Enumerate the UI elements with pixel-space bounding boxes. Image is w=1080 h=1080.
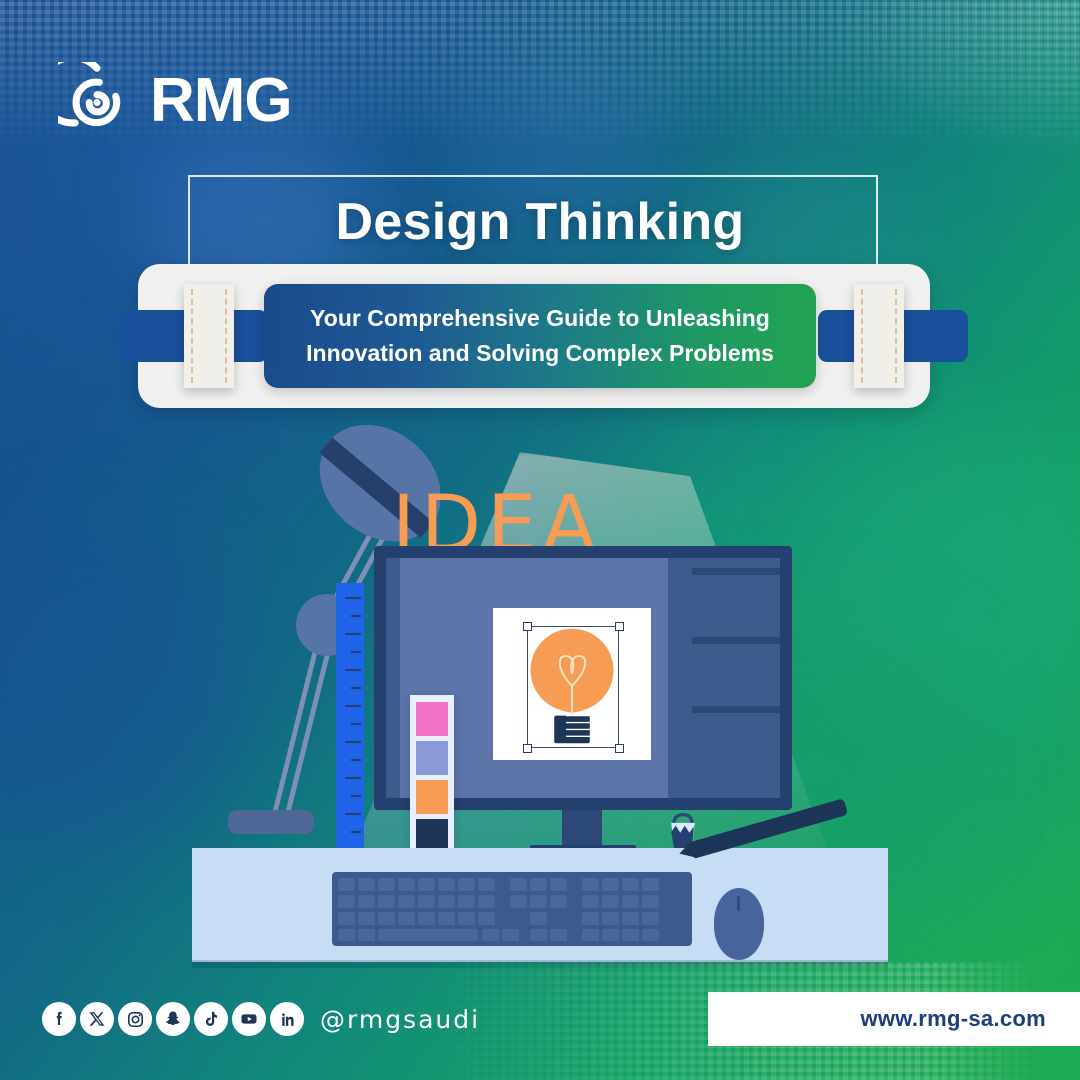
color-palette-strip — [410, 695, 454, 860]
brand-logo[interactable]: RMG — [58, 62, 292, 140]
social-handle: @rmgsaudi — [320, 1005, 480, 1034]
lamp-base — [228, 810, 314, 834]
selection-box — [527, 626, 619, 748]
page-title: Design Thinking — [0, 192, 1080, 252]
palette-swatch-pink[interactable] — [416, 702, 448, 736]
website-url: www.rmg-sa.com — [860, 1006, 1046, 1032]
social-links: @rmgsaudi — [42, 1002, 480, 1036]
subtitle-line-2: Innovation and Solving Complex Problems — [306, 339, 774, 368]
properties-panel — [692, 558, 780, 798]
bookmark-tab-right — [854, 284, 904, 388]
subtitle-line-1: Your Comprehensive Guide to Unleashing — [310, 304, 770, 333]
palette-swatch-blue[interactable] — [416, 741, 448, 775]
keyboard[interactable] — [332, 872, 692, 946]
palette-swatch-orange[interactable] — [416, 780, 448, 814]
artboard — [493, 608, 651, 760]
ruler — [336, 583, 364, 851]
facebook-icon[interactable] — [42, 1002, 76, 1036]
selection-handle[interactable] — [615, 622, 624, 631]
selection-handle[interactable] — [523, 744, 532, 753]
mouse[interactable] — [714, 888, 764, 960]
bg-blob — [820, 420, 1080, 720]
poster-canvas: RMG Design Thinking Your Comprehensive G… — [0, 0, 1080, 1080]
bookmark-tab-left — [184, 284, 234, 388]
footer-bar: @rmgsaudi www.rmg-sa.com — [0, 962, 1080, 1080]
snapchat-icon[interactable] — [156, 1002, 190, 1036]
website-bar[interactable]: www.rmg-sa.com — [708, 992, 1080, 1046]
x-twitter-icon[interactable] — [80, 1002, 114, 1036]
subtitle-banner: Your Comprehensive Guide to Unleashing I… — [264, 284, 816, 388]
selection-handle[interactable] — [615, 744, 624, 753]
brand-name: RMG — [150, 70, 292, 132]
youtube-icon[interactable] — [232, 1002, 266, 1036]
linkedin-icon[interactable] — [270, 1002, 304, 1036]
instagram-icon[interactable] — [118, 1002, 152, 1036]
mouse-scroll-line — [737, 896, 740, 911]
tiktok-icon[interactable] — [194, 1002, 228, 1036]
spiral-arcs-icon — [58, 62, 136, 140]
selection-handle[interactable] — [523, 622, 532, 631]
